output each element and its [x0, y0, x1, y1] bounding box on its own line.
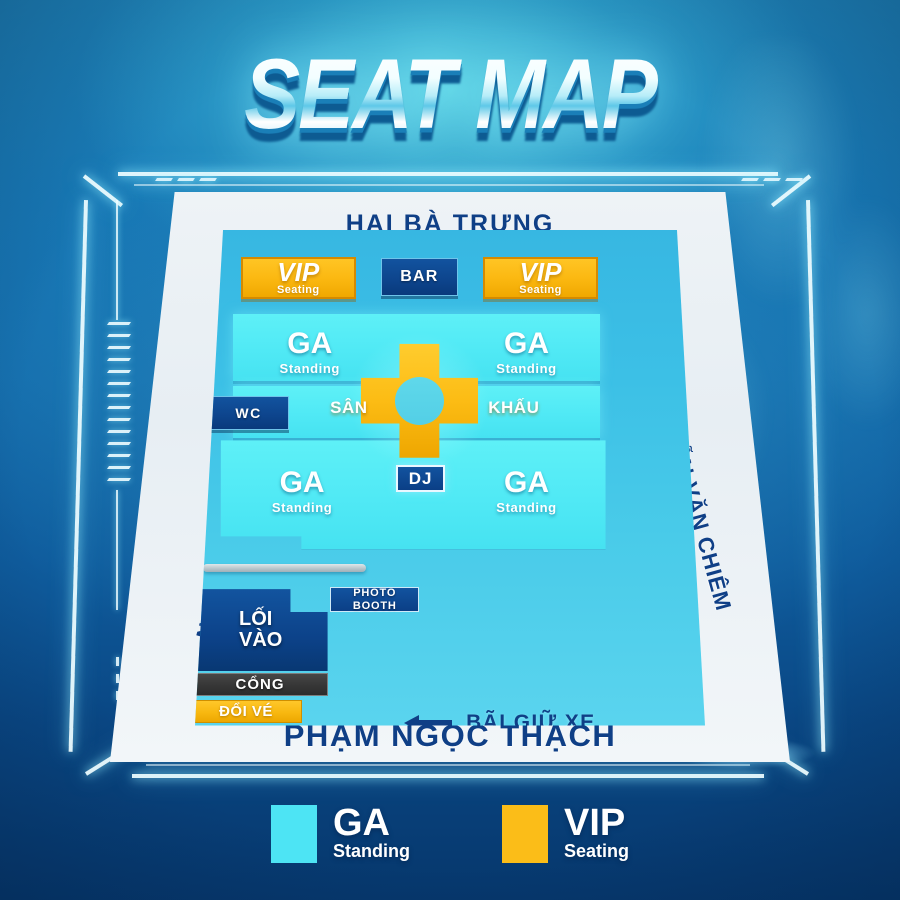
vip-left-name: VIP — [277, 260, 319, 285]
stage-label-left: SÂN — [330, 398, 367, 418]
venue-area: VIP Seating BAR VIP Seating GA Standing … — [195, 230, 705, 726]
zone-wc[interactable]: WC — [208, 396, 290, 431]
zone-gate[interactable]: CỔNG — [192, 673, 327, 696]
seat-map: HAI BÀ TRƯNG PHẠM NGỌC THẠCH NGUYỄN THỊ … — [110, 192, 790, 762]
zone-vip-right[interactable]: VIP Seating — [483, 257, 598, 299]
zone-bar[interactable]: BAR — [381, 258, 458, 296]
zone-ticket-exchange[interactable]: ĐỔI VÉ — [190, 700, 302, 723]
stage-label-right: KHẤU — [488, 398, 539, 418]
legend-item-vip: VIP Seating — [502, 805, 629, 863]
stage-center-circle — [395, 377, 444, 425]
legend-vip-sub: Seating — [564, 841, 629, 862]
page-title: SEAT MAP — [0, 44, 900, 143]
legend-vip-name: VIP — [564, 806, 629, 841]
stage-area[interactable] — [361, 344, 478, 458]
photo-booth-line-1: PHOTO — [353, 587, 396, 599]
legend-text-ga: GA Standing — [333, 806, 410, 863]
entrance-label: LỐIVÀO — [217, 609, 282, 651]
legend-item-ga: GA Standing — [271, 805, 410, 863]
vip-left-sub: Seating — [277, 284, 320, 296]
zone-vip-left[interactable]: VIP Seating — [241, 257, 356, 299]
zone-entrance[interactable]: LỐIVÀO — [195, 589, 328, 671]
zone-photo-booth[interactable]: PHOTOBOOTH — [330, 587, 419, 613]
zone-dj-booth[interactable]: DJ — [396, 465, 444, 492]
vip-right-name: VIP — [520, 260, 562, 285]
legend-swatch-vip — [502, 805, 548, 863]
barrier-fence — [203, 564, 366, 572]
entrance-line-1: LỐI — [239, 608, 272, 630]
legend: GA Standing VIP Seating — [0, 805, 900, 863]
photo-booth-label: PHOTOBOOTH — [353, 587, 397, 612]
legend-ga-sub: Standing — [333, 841, 410, 862]
legend-ga-name: GA — [333, 806, 410, 841]
entrance-line-2: VÀO — [239, 629, 282, 651]
legend-text-vip: VIP Seating — [564, 806, 629, 863]
vip-right-sub: Seating — [519, 284, 562, 296]
photo-booth-line-2: BOOTH — [353, 600, 397, 612]
legend-swatch-ga — [271, 805, 317, 863]
